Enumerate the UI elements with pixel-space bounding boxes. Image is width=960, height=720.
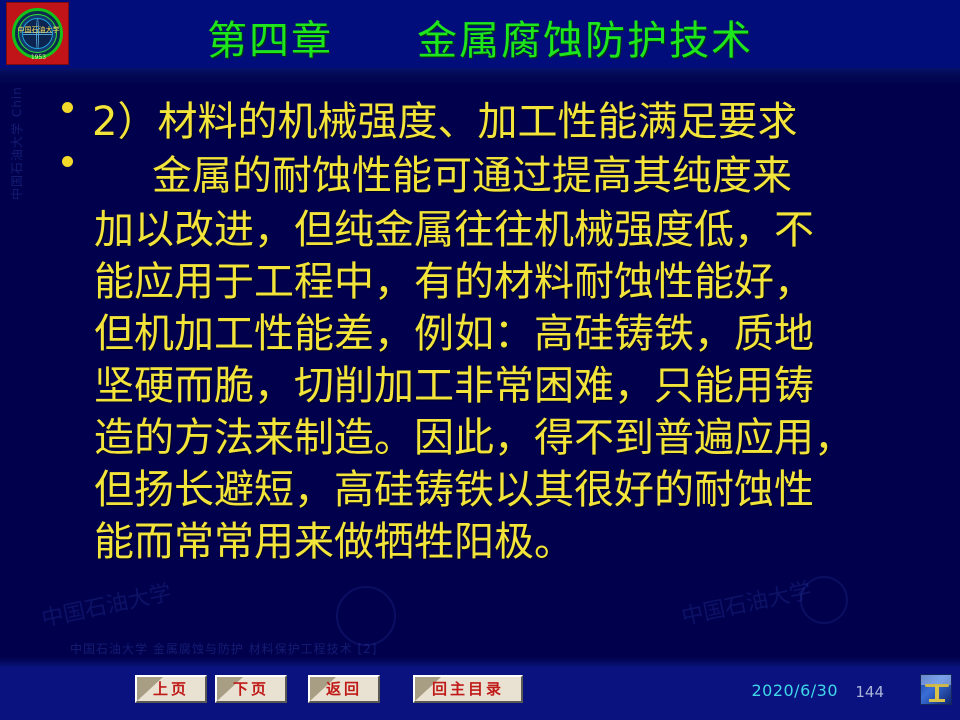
slide-page-number: 144 — [855, 683, 884, 701]
watermark-ring-right — [800, 576, 848, 624]
next-page-button-label: 下页 — [233, 680, 269, 698]
slide-canvas: 中国石油大学 China University of Petroleum 腐蚀与… — [0, 0, 960, 720]
bullet-item-2: 金属的耐蚀性能可通过提高其纯度来 — [0, 150, 960, 202]
back-button[interactable]: 返回 — [308, 675, 380, 703]
main-menu-button-label: 回主目录 — [432, 680, 504, 698]
bullet-2-line-3: 能应用于工程中，有的材料耐蚀性能好， — [0, 256, 960, 308]
decorative-candelabra-icon — [920, 674, 952, 705]
footer-top-divider — [0, 657, 960, 666]
page-title: 第四章 金属腐蚀防护技术 — [0, 8, 960, 66]
bullet-1-line-1: 2）材料的机械强度、加工性能满足要求 — [58, 96, 960, 148]
bullet-2-line-8: 能而常常用来做牺牲阳极。 — [0, 516, 960, 568]
bullet-item-1: 2）材料的机械强度、加工性能满足要求 — [0, 96, 960, 148]
watermark-brand-left: 中国石油大学 — [38, 575, 174, 634]
slide-footer: 上页 下页 返回 回主目录 2020/6/30 144 — [0, 665, 960, 720]
watermark-brand-right: 中国石油大学 — [678, 573, 814, 632]
main-menu-button[interactable]: 回主目录 — [413, 675, 523, 703]
prev-page-button[interactable]: 上页 — [135, 675, 207, 703]
slide-date: 2020/6/30 — [751, 681, 838, 700]
bullet-2-line-6: 造的方法来制造。因此，得不到普遍应用， — [0, 412, 960, 464]
bullet-2-line-7: 但扬长避短，高硅铸铁以其很好的耐蚀性 — [0, 464, 960, 516]
prev-page-button-label: 上页 — [153, 680, 189, 698]
icon-base — [929, 699, 945, 702]
bullet-2-line-5: 坚硬而脆，切削加工非常困难，只能用铸 — [0, 360, 960, 412]
back-button-label: 返回 — [326, 680, 362, 698]
watermark-bottom-text: 中国石油大学 金属腐蚀与防护 材料保护工程技术 [2] — [70, 640, 377, 657]
bullet-2-line-2: 加以改进，但纯金属往往机械强度低，不 — [0, 204, 960, 256]
bullet-2-line-1: 金属的耐蚀性能可通过提高其纯度来 — [58, 150, 960, 202]
watermark-ring-center — [336, 586, 396, 646]
next-page-button[interactable]: 下页 — [215, 675, 287, 703]
bullet-2-line-4: 但机加工性能差，例如：高硅铸铁，质地 — [0, 308, 960, 360]
slide-body: 2）材料的机械强度、加工性能满足要求 金属的耐蚀性能可通过提高其纯度来 加以改进… — [0, 96, 960, 568]
